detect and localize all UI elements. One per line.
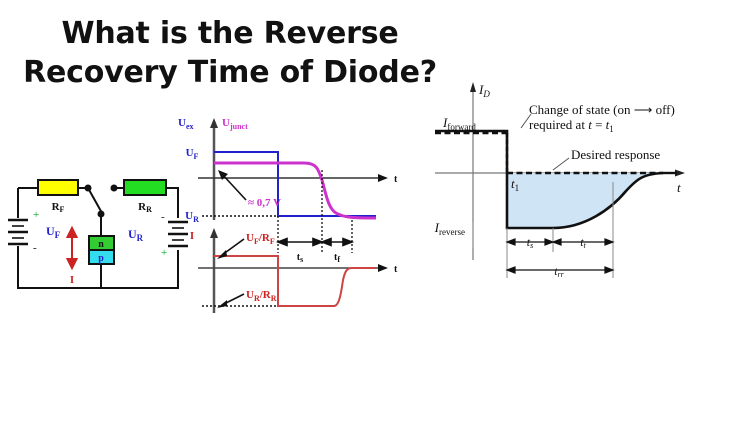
knee-voltage-annotation-arrow [218, 170, 246, 200]
voltage-axis [210, 118, 218, 220]
uex-axis-label: Uex [178, 117, 194, 131]
current-time-axis-label: t [394, 264, 398, 275]
recovery-charge-area [507, 173, 653, 228]
page-title: What is the Reverse Recovery Time of Dio… [0, 14, 460, 92]
battery-reverse-plus: + [161, 247, 167, 259]
i-reverse-label: Ireverse [434, 220, 465, 237]
storage-time-label: ts [297, 252, 303, 264]
reverse-recovery-time-label: trr [554, 264, 564, 279]
recovery-y-axis-label: ID [478, 82, 490, 99]
current-axis [210, 228, 218, 313]
transition-time-dimension-label: tt [580, 235, 586, 250]
ts-tt-dimension-arrows [507, 239, 613, 245]
infographic-page: What is the Reverse Recovery Time of Dio… [0, 0, 755, 437]
resistor-reverse [124, 180, 166, 195]
resistor-reverse-label: RR [138, 201, 152, 214]
storage-time-dimension-label: ts [527, 235, 533, 250]
i-forward-label: Iforward [442, 115, 476, 132]
current-waveform [214, 256, 376, 306]
recovery-x-axis-label: t [677, 180, 681, 195]
switch[interactable] [85, 185, 118, 218]
source-forward-label: UF [46, 224, 61, 240]
current-axis-label: I [190, 230, 194, 242]
resistor-forward [38, 180, 78, 195]
current-label: I [70, 274, 74, 286]
desired-response-leader-line [553, 158, 569, 170]
ujunct-axis-label: Ujunct [222, 117, 248, 131]
circuit-diagram: RF RR + - UF [6, 158, 196, 298]
battery-forward [8, 220, 28, 244]
fall-time-label: tf [334, 252, 340, 264]
knee-voltage-annotation: ≈ 0,7 V [248, 197, 281, 209]
battery-forward-minus: - [33, 242, 37, 254]
forward-current-annotation: UF/RF [246, 232, 275, 246]
waveform-diagram: t Uex Ujunct UF UR [176, 108, 406, 323]
current-direction-arrow [68, 228, 77, 268]
diode-p-region-label: p [98, 253, 104, 264]
reverse-recovery-chart: ID t Iforward Ireverse [425, 70, 745, 300]
change-of-state-line-1: Change of state (on ⟶ off) [529, 102, 675, 117]
page-title-line-2: Recovery Time of Diode? [0, 53, 460, 92]
page-title-line-1: What is the Reverse [0, 14, 460, 53]
diode-n-region-label: n [98, 239, 104, 250]
uf-level-label: UF [186, 147, 199, 161]
resistor-forward-label: RF [52, 201, 65, 214]
battery-forward-plus: + [33, 209, 39, 221]
voltage-time-axis-label: t [394, 174, 398, 185]
desired-response-label: Desired response [571, 147, 660, 162]
reverse-current-annotation: UR/RR [246, 289, 277, 303]
change-of-state-line-2: required at t = t1 [529, 117, 614, 134]
battery-reverse-minus: - [161, 211, 165, 223]
source-reverse-label: UR [128, 227, 144, 243]
interval-arrows [278, 239, 352, 246]
ur-level-label: UR [185, 210, 199, 224]
